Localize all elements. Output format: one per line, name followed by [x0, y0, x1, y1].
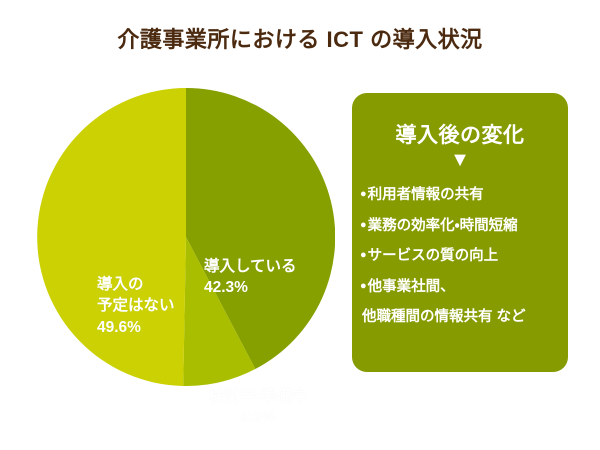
pie-label-introduced-text: 導入している: [204, 258, 297, 275]
bullet-icon: ●: [360, 219, 367, 231]
effects-panel-heading: 導入後の変化: [352, 119, 568, 149]
page-title: 介護事業所における ICT の導入状況: [0, 22, 600, 54]
pie-label-noplan-percent: 49.6%: [97, 317, 175, 338]
pie-label-considering: 検討中・準備中 8.0%: [174, 386, 342, 429]
list-item-continuation: 他職種間の情報共有 など: [362, 310, 568, 325]
pie-label-noplan-text-line2: 予定はない: [97, 295, 175, 316]
infographic-canvas: 介護事業所における ICT の導入状況 導入している 42.3% 導入の 予定は…: [0, 0, 600, 450]
bullet-icon: ●: [360, 188, 367, 200]
list-item-label: 業務の効率化・時間短縮: [368, 218, 518, 234]
bullet-icon: ●: [360, 249, 367, 261]
effects-list: ●利用者情報の共有 ●業務の効率化・時間短縮 ●サービスの質の向上 ●他事業社間…: [360, 188, 568, 325]
effects-panel: 導入後の変化 ▼ ●利用者情報の共有 ●業務の効率化・時間短縮 ●サービスの質の…: [352, 93, 568, 372]
down-triangle-icon: ▼: [352, 150, 568, 170]
pie-chart-svg: [37, 88, 335, 386]
pie-slice-noplan[interactable]: [37, 88, 186, 386]
pie-label-considering-text: 検討中・準備中: [209, 388, 307, 405]
pie-chart: 導入している 42.3% 導入の 予定はない 49.6% 検討中・準備中 8.0…: [37, 88, 335, 386]
pie-label-introduced: 導入している 42.3%: [204, 256, 297, 299]
pie-label-considering-percent: 8.0%: [174, 407, 342, 428]
pie-label-noplan: 導入の 予定はない 49.6%: [97, 274, 175, 338]
pie-label-introduced-percent: 42.3%: [204, 277, 297, 298]
pie-label-noplan-text-line1: 導入の: [97, 276, 144, 293]
list-item: ●業務の効率化・時間短縮: [360, 219, 568, 234]
list-item-label: サービスの質の向上: [368, 248, 499, 264]
bullet-icon: ●: [360, 280, 367, 292]
list-item: ●他事業社間、: [360, 280, 568, 295]
list-item-label: 他事業社間、: [368, 279, 455, 295]
list-item: ●利用者情報の共有: [360, 188, 568, 203]
list-item-label: 利用者情報の共有: [368, 187, 484, 203]
list-item: ●サービスの質の向上: [360, 249, 568, 264]
